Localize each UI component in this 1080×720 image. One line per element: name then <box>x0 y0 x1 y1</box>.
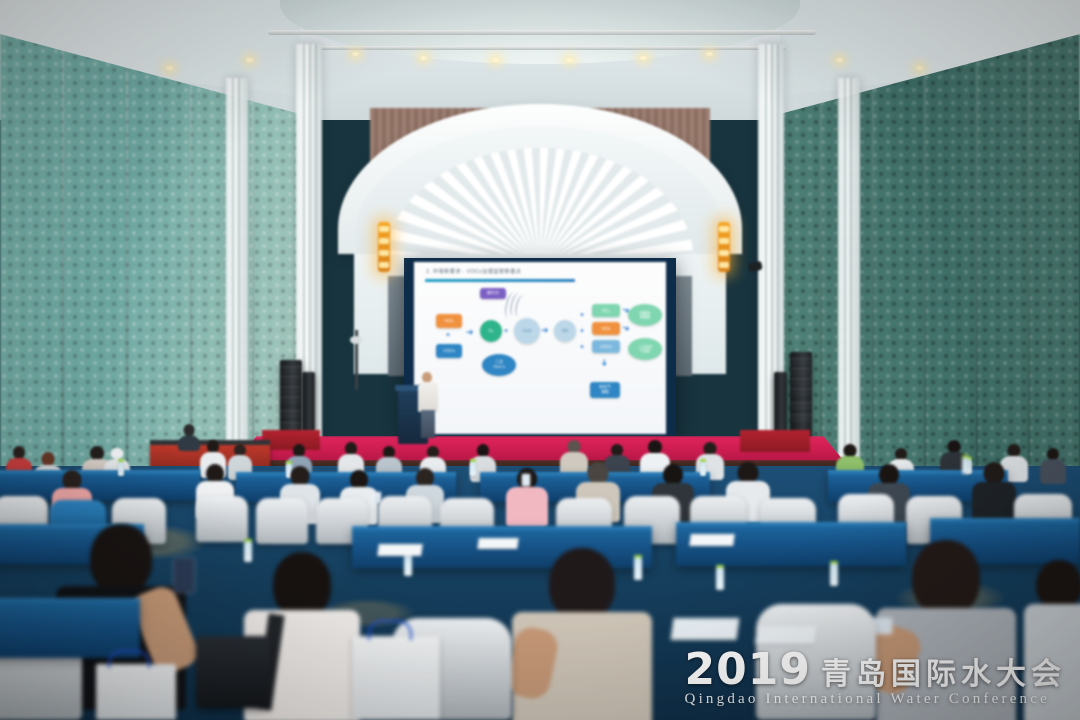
pilaster-left-outer <box>226 78 248 458</box>
arrow-2: ➔ <box>541 326 549 335</box>
arrow-down: ➔ <box>599 359 608 367</box>
handout-paper <box>670 618 739 640</box>
diagram-node-vocs: VOCs <box>436 344 462 358</box>
chair <box>256 498 308 544</box>
presenter-body <box>418 382 438 412</box>
projection-screen: 2. 环保新要求 - VOCs治理监管新重点 紫外光 NOx + VOCs ➔ … <box>414 262 666 434</box>
diagram-node-final: 有机气 溶胶 <box>590 382 620 398</box>
downlight <box>566 58 573 62</box>
presenter <box>418 372 438 438</box>
tote-bag <box>96 664 176 720</box>
downlight <box>166 66 173 70</box>
plus-symbol-5: + <box>580 344 584 351</box>
projection-screen-frame: 2. 环保新要求 - VOCs治理监管新重点 紫外光 NOx + VOCs ➔ … <box>404 258 676 436</box>
stage-side-table-right <box>740 430 810 452</box>
diagram-node-o3: O₃ <box>480 320 502 342</box>
diagram-node-output-1: 硫酸盐 硝酸盐 <box>628 304 662 326</box>
chair <box>196 496 248 542</box>
downlight <box>492 58 499 62</box>
tote-bag <box>352 636 440 720</box>
lighting-truss-secondary <box>300 46 786 50</box>
diagram-node-h2o: H₂O <box>514 318 540 344</box>
water-bottle <box>962 458 969 474</box>
backpack <box>196 636 270 708</box>
attendee-with-phone <box>506 468 548 524</box>
diagram-node-nox2: NOx <box>592 322 620 335</box>
diagram-node-pm25: 二次 PM2.5 <box>482 354 516 376</box>
diagram-node-so2: SO₂ <box>592 304 620 317</box>
plus-symbol-3: + <box>580 312 584 319</box>
handout-paper <box>755 626 818 644</box>
water-bottle <box>716 568 724 590</box>
arrow-4: ➔ <box>621 323 631 334</box>
diagram-node-output-2: 二次有机 气溶胶 <box>628 338 662 360</box>
water-bottle <box>404 556 412 576</box>
banquet-table <box>0 598 140 658</box>
av-technician <box>178 424 200 450</box>
plus-symbol-2: + <box>504 328 508 335</box>
slide-title: 2. 环保新要求 - VOCs治理监管新重点 <box>426 268 521 275</box>
downlight <box>246 58 253 62</box>
diagram-node-vocs2: VOCs <box>592 340 620 353</box>
downlight <box>352 52 359 56</box>
plus-symbol-4: + <box>580 328 584 335</box>
speaker-left-secondary <box>302 372 315 432</box>
handout-paper <box>377 544 423 556</box>
attendee <box>1040 448 1066 482</box>
downlight <box>420 56 427 60</box>
diagram-node-uv: 紫外光 <box>480 288 506 299</box>
pilaster-right-outer <box>838 78 860 458</box>
attendee <box>972 462 1016 520</box>
lighting-truss <box>268 30 816 35</box>
stage-light-tower-left <box>378 222 390 272</box>
conference-hall-photo: 2. 环保新要求 - VOCs治理监管新重点 紫外光 NOx + VOCs ➔ … <box>0 0 1080 720</box>
water-bottle <box>470 462 476 476</box>
ceiling-speaker <box>350 336 362 344</box>
presenter-legs <box>421 410 435 438</box>
attendee <box>1024 560 1080 720</box>
speaker-right-secondary <box>774 372 787 434</box>
diagram-node-nox: NOx <box>436 314 462 328</box>
plus-symbol-1: + <box>446 332 450 339</box>
water-bottle <box>830 564 838 586</box>
downlight <box>640 56 647 60</box>
handout-paper <box>689 534 735 546</box>
diagram-node-oh: OH <box>554 320 576 342</box>
downlight <box>706 52 713 56</box>
stage-light-tower-right <box>718 222 730 272</box>
downlight <box>916 66 923 70</box>
water-bottle <box>700 462 706 476</box>
water-bottle <box>118 462 124 476</box>
downlight <box>836 58 843 62</box>
slide-accent-bar <box>425 279 575 282</box>
arrow-1: ➔ <box>466 328 474 337</box>
